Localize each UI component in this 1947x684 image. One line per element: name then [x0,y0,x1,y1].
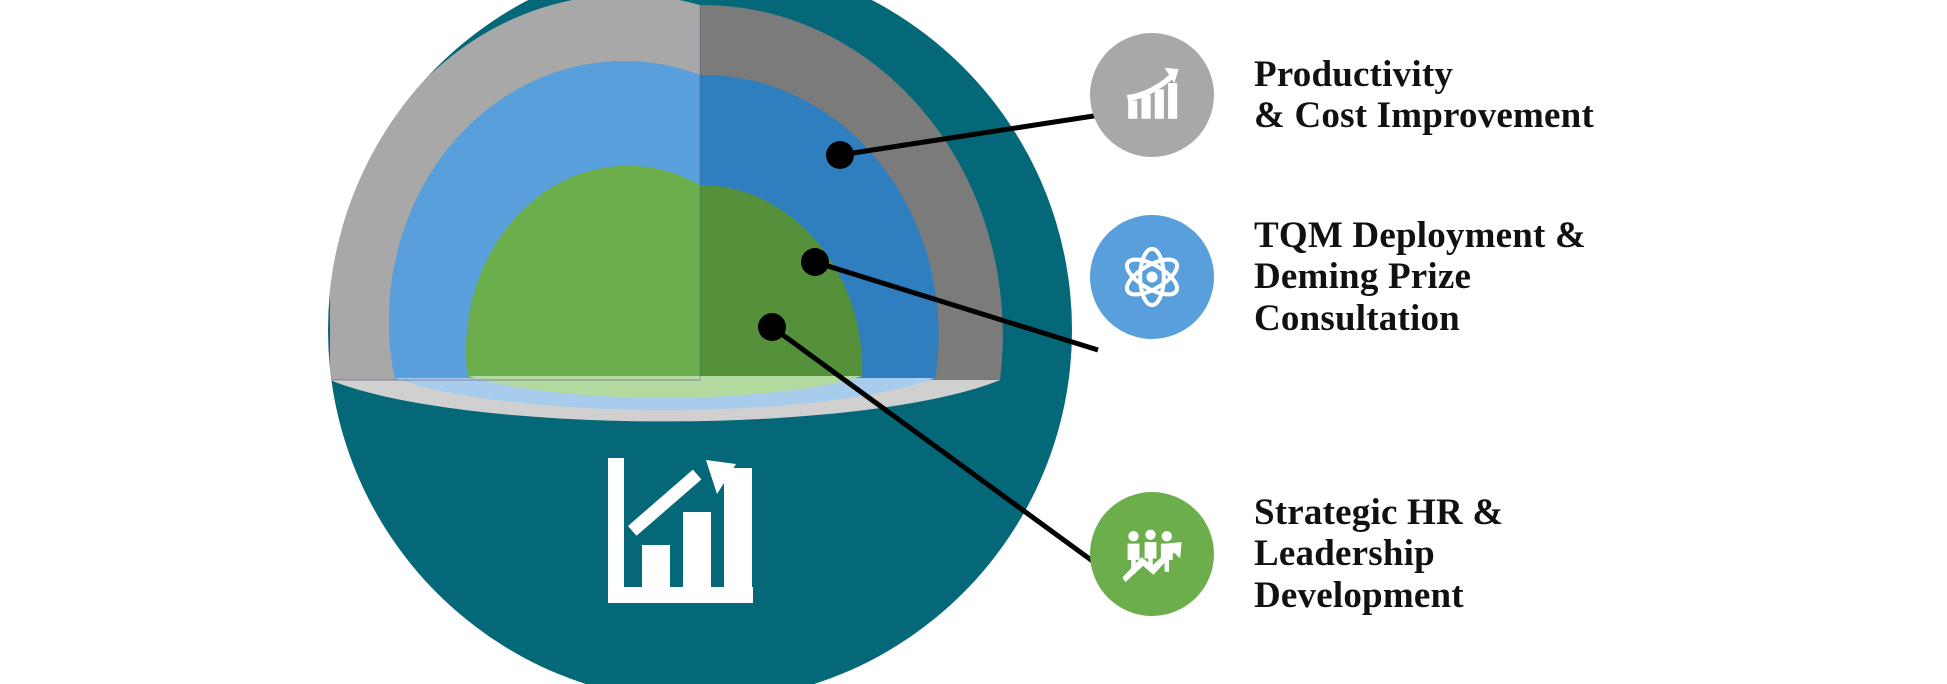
legend-item-tqm[interactable]: TQM Deployment & Deming Prize Consultati… [1090,215,1586,339]
legend-badge-productivity[interactable] [1090,33,1214,157]
people-growth-icon [1115,517,1189,591]
connector-dot-productivity [826,141,854,169]
legend-label-tqm: TQM Deployment & Deming Prize Consultati… [1254,215,1586,339]
connector-dot-tqm [801,248,829,276]
legend-item-strategic-hr[interactable]: Strategic HR & Leadership Development [1090,492,1503,616]
diagram-canvas: Productivity & Cost Improvement TQM Depl… [0,0,1947,684]
cutaway-sphere-graphic [0,0,1947,684]
legend-label-productivity: Productivity & Cost Improvement [1254,54,1594,137]
legend-badge-strategic-hr[interactable] [1090,492,1214,616]
connector-dot-strategic-hr [758,313,786,341]
legend-item-productivity[interactable]: Productivity & Cost Improvement [1090,33,1594,157]
atom-icon [1115,240,1189,314]
legend-label-strategic-hr: Strategic HR & Leadership Development [1254,492,1503,616]
bar-chart-growth-icon [1117,60,1187,130]
legend-badge-tqm[interactable] [1090,215,1214,339]
